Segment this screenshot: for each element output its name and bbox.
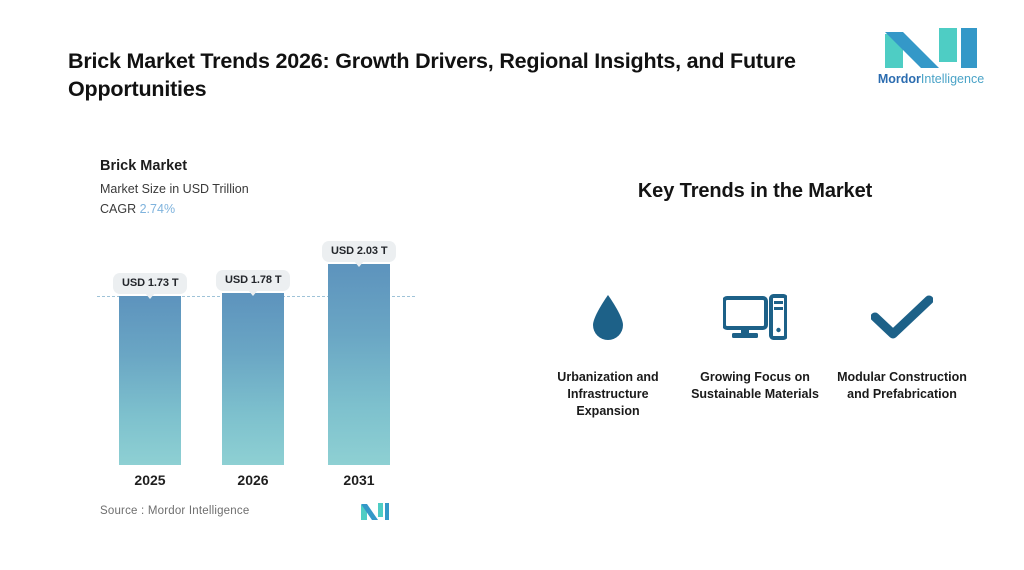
key-trends-row: Urbanization and Infrastructure Expansio… xyxy=(520,289,990,420)
bar-value-label-2026: USD 1.78 T xyxy=(216,270,290,291)
chart-panel: Brick Market Market Size in USD Trillion… xyxy=(0,150,470,540)
desktop-computer-icon xyxy=(723,289,787,347)
water-drop-icon xyxy=(589,289,627,347)
x-axis-label-2025: 2025 xyxy=(119,472,181,488)
trend-label-sustainable-materials: Growing Focus on Sustainable Materials xyxy=(685,369,825,403)
bar-2031 xyxy=(328,264,390,465)
bar-value-label-2031: USD 2.03 T xyxy=(322,241,396,262)
trend-item-modular-construction: Modular Construction and Prefabrication xyxy=(832,289,972,420)
brand-wordmark: MordorIntelligence xyxy=(878,73,984,86)
bar-chart-plot: USD 1.73 T USD 1.78 T USD 2.03 T 2025 20… xyxy=(0,150,470,540)
trend-label-urbanization: Urbanization and Infrastructure Expansio… xyxy=(538,369,678,420)
brand-word-secondary: Intelligence xyxy=(921,72,984,86)
chart-source-row: Source : Mordor Intelligence xyxy=(100,502,390,520)
mordor-intelligence-logo-icon xyxy=(883,26,979,68)
bar-2026 xyxy=(222,293,284,465)
checkmark-icon xyxy=(871,289,933,347)
trend-item-urbanization: Urbanization and Infrastructure Expansio… xyxy=(538,289,678,420)
trend-item-sustainable-materials: Growing Focus on Sustainable Materials xyxy=(685,289,825,420)
mordor-intelligence-mini-logo-icon xyxy=(360,502,390,520)
brand-logo: MordorIntelligence xyxy=(866,26,996,86)
key-trends-heading: Key Trends in the Market xyxy=(520,180,990,203)
x-axis-label-2026: 2026 xyxy=(222,472,284,488)
bar-value-label-2025: USD 1.73 T xyxy=(113,273,187,294)
key-trends-panel: Key Trends in the Market Urbanization an… xyxy=(520,180,990,420)
page-title: Brick Market Trends 2026: Growth Drivers… xyxy=(68,48,808,103)
x-axis-label-2031: 2031 xyxy=(328,472,390,488)
source-text: Source : Mordor Intelligence xyxy=(100,505,249,517)
brand-word-primary: Mordor xyxy=(878,72,921,86)
bar-2025 xyxy=(119,296,181,465)
trend-label-modular-construction: Modular Construction and Prefabrication xyxy=(832,369,972,403)
